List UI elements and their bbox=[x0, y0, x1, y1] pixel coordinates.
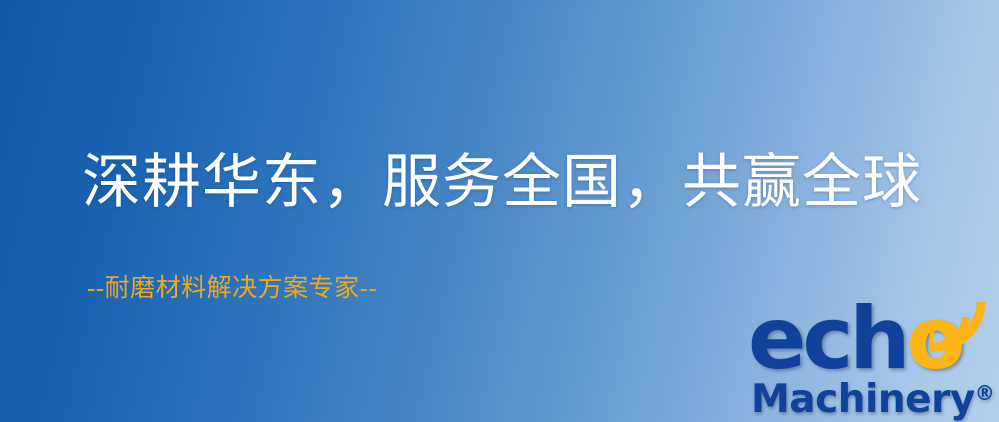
page-subtitle: --耐磨材料解决方案专家-- bbox=[87, 268, 377, 304]
signal-waves-icon bbox=[930, 290, 996, 352]
logo-subword: Machinery® bbox=[751, 374, 995, 419]
hero-banner: 深耕华东，服务全国，共赢全球 --耐磨材料解决方案专家-- echo Machi… bbox=[0, 0, 999, 422]
company-logo[interactable]: echo Machinery® bbox=[748, 296, 996, 418]
logo-subword-text: Machinery bbox=[751, 377, 975, 422]
page-title: 深耕华东，服务全国，共赢全球 bbox=[82, 152, 922, 214]
registered-trademark-icon: ® bbox=[975, 381, 995, 405]
